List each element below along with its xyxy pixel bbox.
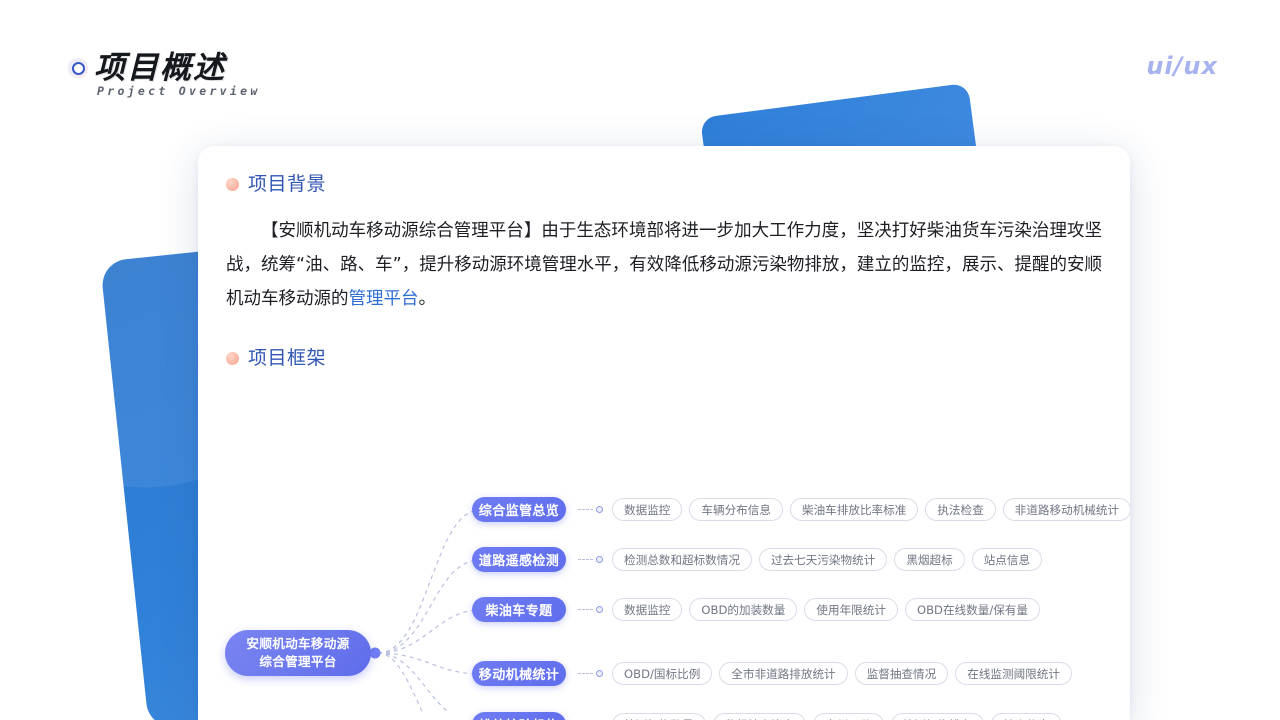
- leaf-tag[interactable]: 检测机构数量: [612, 713, 706, 720]
- leaf-row-2: 数据监控 OBD的加装数量 使用年限统计 OBD在线数量/保有量: [578, 598, 1040, 621]
- leaf-tag[interactable]: 站点信息: [991, 713, 1061, 720]
- mindmap-root-node[interactable]: 安顺机动车移动源 综合管理平台: [225, 630, 371, 676]
- brand-label: ui/ux: [1146, 52, 1218, 80]
- background-paragraph: 【安顺机动车移动源综合管理平台】由于生态环境部将进一步加大工作力度，坚决打好柴油…: [226, 214, 1102, 316]
- branch-label-3: 移动机械统计: [479, 664, 559, 683]
- section-title-background: 项目背景: [248, 169, 326, 196]
- branch-node-2[interactable]: 柴油车专题: [472, 597, 566, 622]
- root-node-line1: 安顺机动车移动源: [246, 635, 349, 653]
- leaf-row-0: 数据监控 车辆分布信息 柴油车排放比率标准 执法检查 非道路移动机械统计: [578, 498, 1130, 521]
- bullet-dot-icon: [226, 178, 239, 191]
- page-header: 项目概述 Project Overview ui/ux: [0, 0, 1280, 110]
- leaf-row-3: OBD/国标比例 全市非道路排放统计 监督抽查情况 在线监测阈限统计: [578, 662, 1072, 685]
- page-subtitle: Project Overview: [97, 84, 261, 98]
- branch-node-0[interactable]: 综合监管总览: [472, 497, 566, 522]
- branch-node-3[interactable]: 移动机械统计: [472, 661, 566, 686]
- content-card: 项目背景 【安顺机动车移动源综合管理平台】由于生态环境部将进一步加大工作力度，坚…: [198, 146, 1130, 720]
- section-header-background: 项目背景: [226, 172, 1130, 198]
- leaf-connector-2: [578, 606, 603, 613]
- title-marker-icon: [68, 58, 88, 78]
- leaf-tag[interactable]: 数据监控: [612, 498, 682, 521]
- leaf-tag[interactable]: OBD在线数量/保有量: [905, 598, 1040, 621]
- leaf-tag[interactable]: 站点信息: [972, 548, 1042, 571]
- leaf-connector-3: [578, 670, 603, 677]
- leaf-tag[interactable]: 柴油车排放比率标准: [790, 498, 918, 521]
- leaf-tag[interactable]: 车辆分布信息: [689, 498, 783, 521]
- branch-label-2: 柴油车专题: [485, 600, 552, 619]
- root-node-line2: 综合管理平台: [259, 653, 336, 671]
- leaf-tag[interactable]: 全市非道路排放统计: [719, 662, 847, 685]
- leaf-tag[interactable]: 非道路移动机械统计: [1003, 498, 1130, 521]
- page-title: 项目概述: [94, 42, 226, 87]
- branch-label-0: 综合监管总览: [479, 500, 559, 519]
- paragraph-tail-text: 。: [419, 289, 437, 309]
- leaf-tag[interactable]: OBD的加装数量: [689, 598, 797, 621]
- leaf-row-1: 检测总数和超标数情况 过去七天污染物统计 黑烟超标 站点信息: [578, 548, 1042, 571]
- leaf-tag[interactable]: 数据监控: [612, 598, 682, 621]
- leaf-connector-1: [578, 556, 603, 563]
- section-header-framework: 项目框架: [226, 346, 1130, 372]
- paragraph-highlight-text: 管理平台: [349, 289, 419, 309]
- branch-label-1: 道路遥感检测: [479, 550, 559, 569]
- leaf-tag[interactable]: 使用年限统计: [804, 598, 898, 621]
- branch-node-1[interactable]: 道路遥感检测: [472, 547, 566, 572]
- leaf-tag[interactable]: 检测总数和超标数情况: [612, 548, 752, 571]
- framework-mindmap: 安顺机动车移动源 综合管理平台 综合监管总览 数据监控 车辆分布信息 柴油车排放…: [198, 472, 1130, 712]
- bullet-dot-icon: [226, 352, 239, 365]
- leaf-tag[interactable]: 黑烟超标: [894, 548, 964, 571]
- leaf-tag[interactable]: 过去七天污染物统计: [759, 548, 887, 571]
- leaf-tag[interactable]: OBD/国标比例: [612, 662, 712, 685]
- leaf-connector-0: [578, 506, 603, 513]
- leaf-tag[interactable]: 执法检查: [925, 498, 995, 521]
- leaf-tag[interactable]: 检测机构排名: [891, 713, 985, 720]
- leaf-tag[interactable]: 市州评分: [813, 713, 883, 720]
- section-title-framework: 项目框架: [248, 343, 326, 370]
- leaf-tag[interactable]: 在线监测阈限统计: [955, 662, 1072, 685]
- leaf-row-4: 检测机构数量 监督抽查比率 市州评分 检测机构排名 站点信息: [578, 713, 1062, 720]
- leaf-tag[interactable]: 监督抽查比率: [713, 713, 807, 720]
- leaf-tag[interactable]: 监督抽查情况: [855, 662, 949, 685]
- branch-node-4[interactable]: 排放检验机构: [472, 712, 566, 720]
- branch-label-4: 排放检验机构: [479, 715, 559, 720]
